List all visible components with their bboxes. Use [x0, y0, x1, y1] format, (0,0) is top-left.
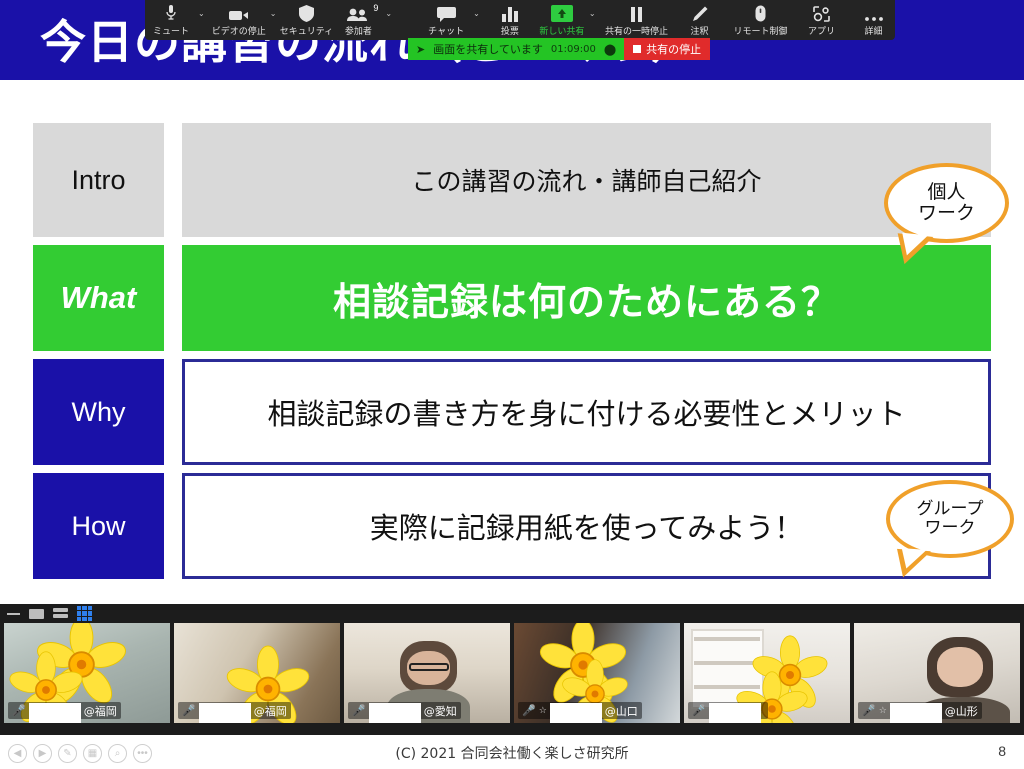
toolbar-polls-button[interactable]: 投票 — [484, 0, 536, 40]
page-number: 8 — [998, 743, 1006, 759]
more-options-icon[interactable]: ••• — [133, 744, 152, 763]
toolbar-item-label: セキュリティ — [280, 24, 333, 37]
redacted-name-box — [199, 703, 251, 724]
gallery-view-icon[interactable] — [77, 606, 92, 621]
callout-line-1: 個人 — [927, 182, 965, 203]
pause-icon — [630, 3, 643, 22]
participant-tile[interactable]: 🎤 ☆ @山口 — [514, 623, 680, 723]
chevron-down-icon[interactable]: ⌄ — [269, 9, 281, 31]
callout-group-work: グループ ワーク — [886, 480, 1014, 558]
toolbar-apps-button[interactable]: アプリ — [796, 0, 848, 40]
share-timer: 01:09:00 — [551, 44, 596, 55]
participant-tile[interactable]: 🎤 ☆ @山形 — [854, 623, 1020, 723]
mouse-icon — [755, 3, 766, 22]
callout-line-2: ワーク — [925, 519, 976, 538]
participant-name: @福岡 — [254, 703, 287, 719]
screen-share-status-bar: ➤ 画面を共有しています 01:09:00 ⬤ 共有の停止 — [408, 38, 710, 60]
table-row: How 実際に記録用紙を使ってみよう！ — [33, 473, 991, 579]
chevron-down-icon[interactable]: ⌄ — [384, 9, 396, 31]
callout-line-1: グループ — [917, 500, 984, 519]
powerpoint-controls[interactable]: ◀ ▶ ✎ ▦ ⌕ ••• — [8, 744, 152, 763]
chevron-down-icon[interactable]: ⌄ — [472, 9, 484, 31]
participant-name-tag: 🎤 — [688, 702, 768, 719]
toolbar-item-label: ミュート — [153, 24, 189, 37]
toolbar-annotate-button[interactable]: 注釈 — [674, 0, 726, 40]
star-icon: ☆ — [879, 706, 887, 716]
redacted-name-box — [709, 703, 761, 724]
chevron-down-icon[interactable]: ⌄ — [588, 9, 600, 31]
agenda-body-what: 相談記録は何のためにある？ — [182, 245, 991, 351]
stop-share-label: 共有の停止 — [646, 41, 701, 57]
toolbar-item-label: 注釈 — [691, 24, 709, 37]
filmstrip-view-icon[interactable] — [53, 608, 68, 619]
stop-square-icon — [633, 45, 641, 53]
callout-individual-work: 個人 ワーク — [884, 163, 1009, 243]
participant-name: @福岡 — [84, 703, 117, 719]
mic-muted-icon: 🎤 — [182, 705, 196, 716]
toolbar-mute-button[interactable]: ミュート — [145, 0, 197, 40]
participant-name-tag: 🎤 ☆ @山口 — [518, 702, 642, 719]
toolbar-item-label: ビデオの停止 — [212, 24, 266, 37]
zoom-meeting-toolbar[interactable]: ミュート ⌄ ビデオの停止 ⌄ セキュリティ 9 — [145, 0, 895, 40]
minimize-icon[interactable] — [7, 613, 20, 615]
toolbar-item-label: 新しい共有 — [539, 24, 584, 37]
video-layout-controls[interactable] — [0, 604, 1024, 623]
toolbar-remote-control-button[interactable]: リモート制御 — [726, 0, 796, 40]
copyright-text: (C) 2021 合同会社働く楽しさ研究所 — [0, 743, 1024, 763]
presentation-slide: 今日の講習の流れ（ざっくり） Intro この講習の流れ・講師自己紹介 What… — [0, 0, 1024, 604]
microphone-icon — [165, 3, 177, 22]
participant-name: @山口 — [605, 703, 638, 719]
next-slide-button[interactable]: ▶ — [33, 744, 52, 763]
table-row: Intro この講習の流れ・講師自己紹介 — [33, 123, 991, 237]
video-camera-icon — [229, 3, 249, 22]
all-slides-icon[interactable]: ▦ — [83, 744, 102, 763]
participant-name-tag: 🎤 @福岡 — [8, 702, 121, 719]
table-row: What 相談記録は何のためにある？ — [33, 245, 991, 351]
sharing-status-text: 画面を共有しています — [433, 41, 543, 57]
apps-icon — [813, 3, 830, 22]
star-icon: ☆ — [539, 706, 547, 716]
agenda-label-how: How — [33, 473, 164, 579]
participant-tile[interactable]: 🎤 @福岡 — [174, 623, 340, 723]
mic-muted-icon: 🎤 — [352, 705, 366, 716]
toolbar-item-label: リモート制御 — [734, 24, 788, 37]
chevron-down-icon[interactable]: ⌄ — [197, 9, 209, 31]
toolbar-item-label: アプリ — [808, 24, 835, 37]
video-thumbnail-strip: 🎤 @福岡 🎤 @福岡 — [0, 604, 1024, 735]
agenda-body-how: 実際に記録用紙を使ってみよう！ — [182, 473, 991, 579]
chat-bubble-icon — [437, 3, 456, 22]
pencil-icon — [692, 3, 708, 22]
mic-muted-icon: 🎤 — [692, 705, 706, 716]
encryption-shield-icon: ⬤ — [604, 43, 616, 56]
toolbar-item-label: 詳細 — [865, 24, 883, 37]
mic-muted-icon: 🎤 — [12, 705, 26, 716]
redacted-name-box — [29, 703, 81, 724]
participant-tile[interactable]: 🎤 @福岡 — [4, 623, 170, 723]
poll-bars-icon — [502, 3, 518, 22]
toolbar-stop-video-button[interactable]: ビデオの停止 — [209, 0, 269, 40]
agenda-body-why: 相談記録の書き方を身に付ける必要性とメリット — [182, 359, 991, 465]
ellipsis-icon — [864, 3, 884, 22]
table-row: Why 相談記録の書き方を身に付ける必要性とメリット — [33, 359, 991, 465]
participant-name-tag: 🎤 @愛知 — [348, 702, 461, 719]
toolbar-item-label: 投票 — [501, 24, 519, 37]
sharing-indicator: ➤ 画面を共有しています 01:09:00 ⬤ — [408, 38, 624, 60]
mic-muted-icon: 🎤 — [522, 705, 536, 716]
pen-icon[interactable]: ✎ — [58, 744, 77, 763]
participant-name-tag: 🎤 @福岡 — [178, 702, 291, 719]
toolbar-item-label: チャット — [428, 24, 464, 37]
callout-line-2: ワーク — [918, 203, 975, 224]
participant-name: @山形 — [945, 703, 978, 719]
agenda-table: Intro この講習の流れ・講師自己紹介 What 相談記録は何のためにある？ … — [33, 123, 991, 579]
stop-share-button[interactable]: 共有の停止 — [624, 38, 710, 60]
participant-tile[interactable]: 🎤 @愛知 — [344, 623, 510, 723]
participants-icon — [346, 3, 370, 22]
participant-tiles: 🎤 @福岡 🎤 @福岡 — [0, 623, 1024, 727]
toolbar-new-share-button[interactable]: 新しい共有 — [536, 0, 588, 40]
mic-muted-icon: 🎤 — [862, 705, 876, 716]
redacted-name-box — [890, 703, 942, 724]
toolbar-item-label: 参加者 — [345, 24, 372, 37]
participant-tile[interactable]: 🎤 — [684, 623, 850, 723]
redacted-name-box — [369, 703, 421, 724]
share-screen-up-arrow-icon — [551, 3, 573, 22]
participant-count-badge: 9 — [373, 3, 378, 13]
redacted-name-box — [550, 703, 602, 724]
share-arrow-icon: ➤ — [416, 43, 425, 56]
toolbar-more-button[interactable]: 詳細 — [848, 0, 900, 40]
toolbar-security-button[interactable]: セキュリティ — [280, 0, 332, 40]
participant-name: @愛知 — [424, 703, 457, 719]
agenda-label-what: What — [33, 245, 164, 351]
toolbar-participants-button[interactable]: 9 参加者 — [332, 0, 384, 40]
agenda-label-intro: Intro — [33, 123, 164, 237]
speaker-view-icon[interactable] — [29, 609, 44, 619]
shield-icon — [299, 3, 314, 22]
zoom-screen-share-window: 今日の講習の流れ（ざっくり） Intro この講習の流れ・講師自己紹介 What… — [0, 0, 1024, 769]
agenda-label-why: Why — [33, 359, 164, 465]
zoom-icon[interactable]: ⌕ — [108, 744, 127, 763]
toolbar-chat-button[interactable]: チャット — [420, 0, 472, 40]
participant-name-tag: 🎤 ☆ @山形 — [858, 702, 982, 719]
slide-footer: (C) 2021 合同会社働く楽しさ研究所 8 — [0, 735, 1024, 769]
toolbar-item-label: 共有の一時停止 — [605, 24, 668, 37]
toolbar-pause-share-button[interactable]: 共有の一時停止 — [600, 0, 674, 40]
agenda-body-intro: この講習の流れ・講師自己紹介 — [182, 123, 991, 237]
prev-slide-button[interactable]: ◀ — [8, 744, 27, 763]
